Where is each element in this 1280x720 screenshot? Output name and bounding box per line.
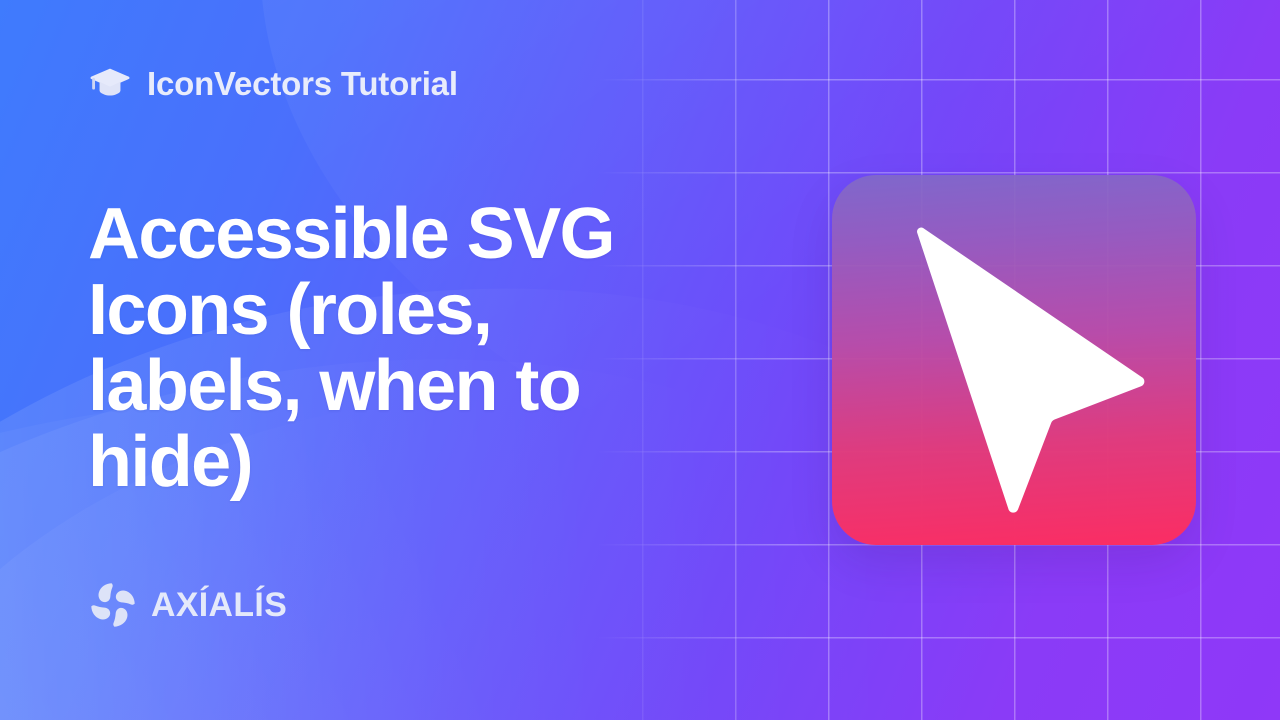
axialis-wordmark: AXÍALÍS [151,585,343,625]
axialis-pinwheel-icon [88,580,138,630]
page-title: Accessible SVG Icons (roles, labels, whe… [88,196,688,500]
graduation-cap-icon [88,62,132,106]
icon-showcase-card [832,175,1196,545]
svg-text:AXÍALÍS: AXÍALÍS [151,586,287,624]
brand-label: IconVectors Tutorial [147,65,458,103]
axialis-logo: AXÍALÍS [88,580,343,630]
cursor-arrow-icon [832,175,1196,545]
slide-canvas: IconVectors Tutorial Accessible SVG Icon… [0,0,1280,720]
brand-header: IconVectors Tutorial [88,62,458,106]
